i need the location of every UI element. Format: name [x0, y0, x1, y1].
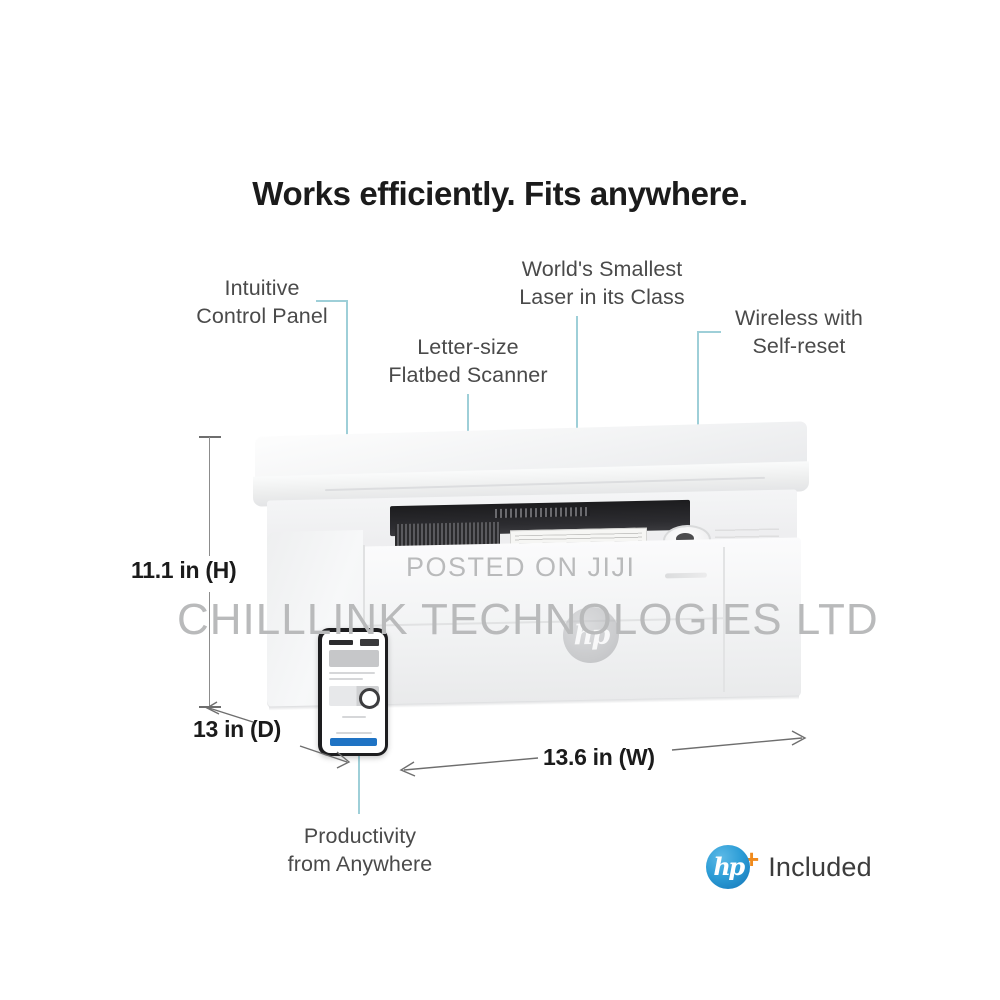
phone-app-card [329, 650, 379, 667]
height-dimension-line-upper [209, 437, 210, 556]
hp-plus-logo-icon: hp [706, 845, 750, 889]
callout-control-panel: Intuitive Control Panel [152, 274, 372, 330]
depth-dimension-label: 13 in (D) [193, 716, 281, 743]
phone-app-header [329, 640, 353, 645]
callout-flatbed-scanner: Letter-size Flatbed Scanner [358, 333, 578, 389]
phone-app-header-badge [360, 639, 379, 646]
hp-plus-included-label: Included [768, 852, 872, 883]
hp-plus-logo-text: hp [713, 855, 742, 879]
phone-app-line [329, 678, 363, 680]
hp-plus-badge: hp + Included [706, 845, 872, 889]
leader-line-wireless-vertical [697, 331, 699, 437]
printer-door-handle [665, 573, 707, 579]
hp-logo-text: hp [574, 621, 609, 649]
phone-app-line [329, 672, 375, 674]
height-dimension-line-lower [209, 592, 210, 706]
product-infographic: Works efficiently. Fits anywhere. Intuit… [0, 0, 1000, 1000]
page-title: Works efficiently. Fits anywhere. [0, 175, 1000, 213]
callout-wireless: Wireless with Self-reset [714, 304, 884, 360]
height-dimension-label: 11.1 in (H) [131, 557, 236, 584]
callout-smallest-laser: World's Smallest Laser in its Class [497, 255, 707, 311]
width-dimension-label: 13.6 in (W) [543, 744, 655, 771]
printer-right-seam [723, 547, 725, 692]
callout-productivity: Productivity from Anywhere [252, 822, 468, 878]
